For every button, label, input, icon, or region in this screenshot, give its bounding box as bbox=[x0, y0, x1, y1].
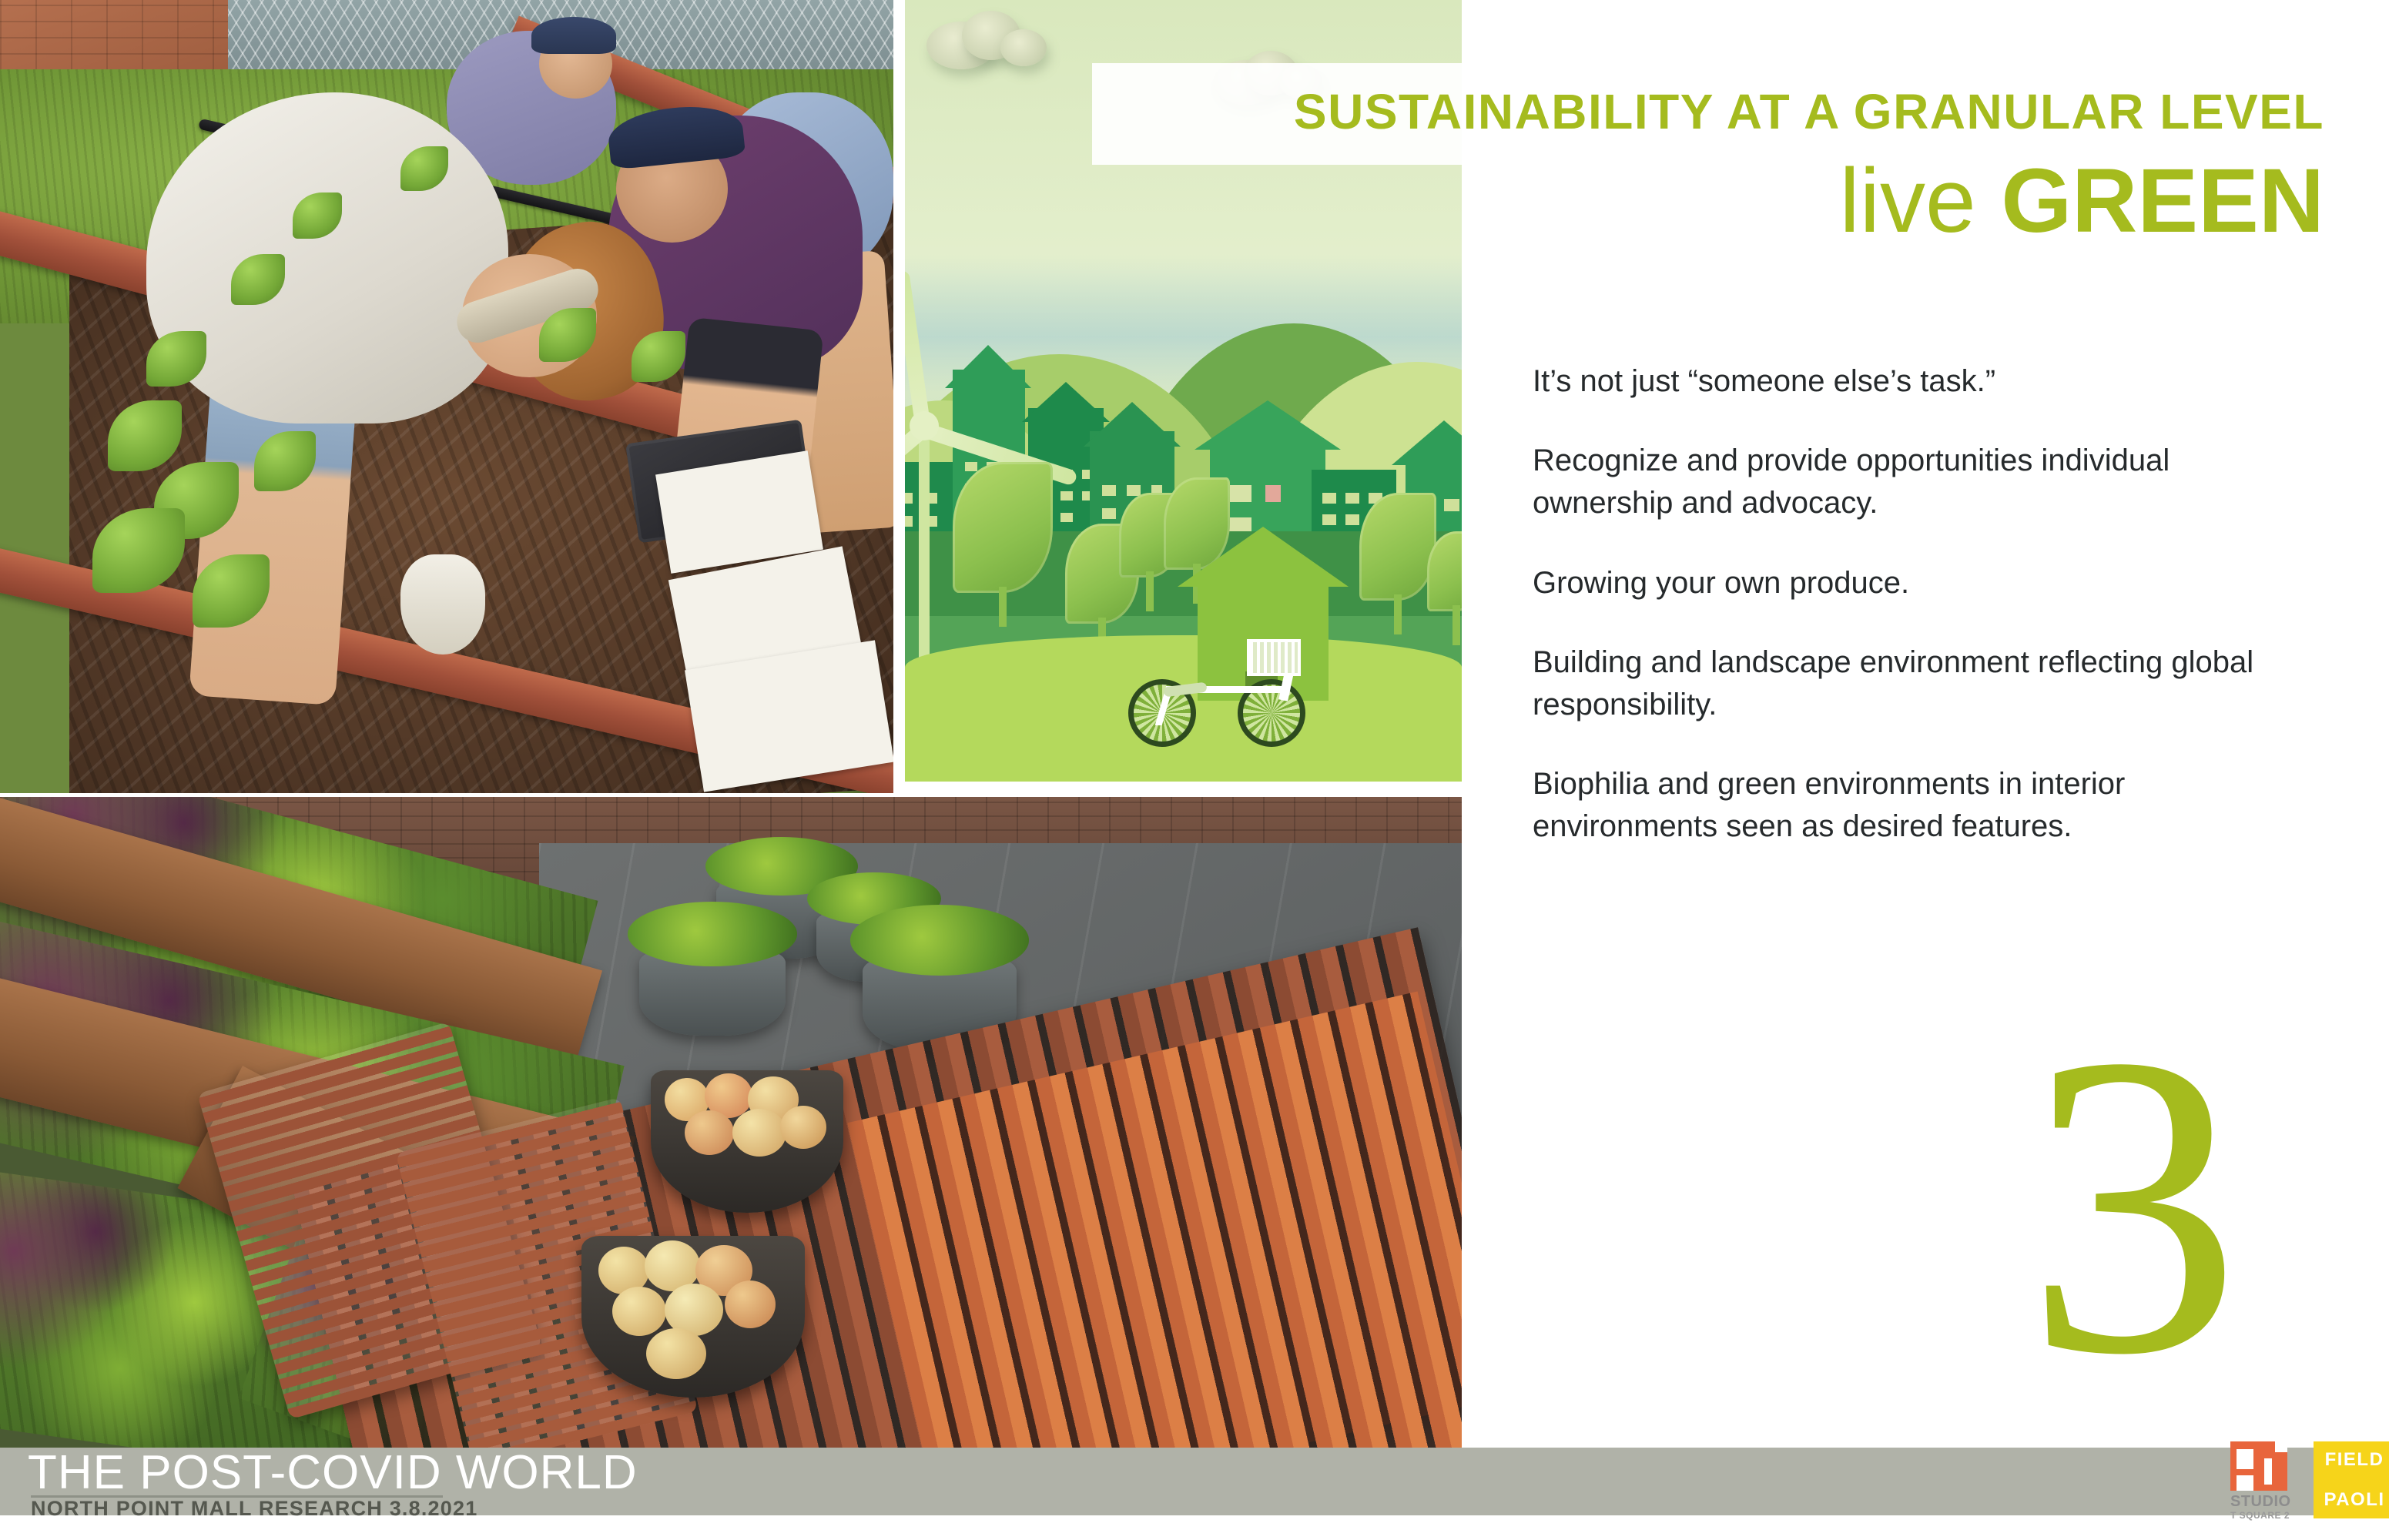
photo-fruit-bowl bbox=[651, 1070, 843, 1213]
slide-headline: live GREEN bbox=[1309, 154, 2324, 249]
cloud-icon bbox=[1000, 29, 1047, 66]
studio-logo-line1: STUDIO bbox=[2230, 1494, 2294, 1510]
footer-subtitle: NORTH POINT MALL RESEARCH 3.8.2021 bbox=[31, 1497, 477, 1521]
building-roof bbox=[1084, 402, 1181, 447]
headline-bold: GREEN bbox=[2001, 150, 2324, 252]
field-paoli-line2: PAOLI bbox=[2314, 1489, 2389, 1511]
photo-community-garden-volunteers bbox=[0, 0, 893, 793]
photo-planter-pot bbox=[639, 951, 786, 1036]
body-paragraph: Building and landscape environment refle… bbox=[1533, 641, 2310, 726]
field-paoli-line1: FIELD bbox=[2314, 1449, 2389, 1471]
body-paragraph: Growing your own produce. bbox=[1533, 562, 2310, 604]
wind-turbine-icon bbox=[919, 416, 930, 662]
field-paoli-logo: FIELD PAOLI bbox=[2314, 1441, 2389, 1518]
tree-icon bbox=[1427, 531, 1462, 611]
logo-group: STUDIO T SQUARE 2 FIELD PAOLI bbox=[2230, 1441, 2389, 1528]
headline-light: live bbox=[1840, 150, 2002, 252]
photo-gardening-glove bbox=[400, 554, 485, 654]
studio-logo-line2: T SQUARE 2 bbox=[2230, 1510, 2294, 1521]
tree-icon bbox=[953, 462, 1053, 593]
photo-volunteer-cap bbox=[531, 17, 616, 54]
building-roof bbox=[1392, 420, 1462, 465]
body-paragraph: Biophilia and green environments in inte… bbox=[1533, 763, 2310, 848]
footer-title: THE POST-COVID WORLD bbox=[28, 1445, 638, 1500]
tree-icon bbox=[1359, 493, 1436, 601]
photo-fruit-bowl bbox=[581, 1236, 805, 1398]
body-paragraph: It’s not just “someone else’s task.” bbox=[1533, 360, 2310, 403]
building-roof bbox=[1194, 400, 1341, 450]
bicycle-icon bbox=[1128, 662, 1305, 747]
photo-rooftop-garden-harvest bbox=[0, 797, 1462, 1448]
slide-number: 3 bbox=[1972, 989, 2295, 1421]
studio-t-square-logo: STUDIO T SQUARE 2 bbox=[2230, 1441, 2294, 1521]
body-paragraph: Recognize and provide opportunities indi… bbox=[1533, 440, 2310, 524]
studio-t-square-mark-icon bbox=[2230, 1441, 2287, 1491]
wind-turbine-icon bbox=[910, 411, 939, 440]
building-roof bbox=[945, 345, 1031, 388]
slide-eyebrow: SUSTAINABILITY AT A GRANULAR LEVEL bbox=[1092, 83, 2324, 140]
body-copy-block: It’s not just “someone else’s task.” Rec… bbox=[1533, 360, 2310, 849]
